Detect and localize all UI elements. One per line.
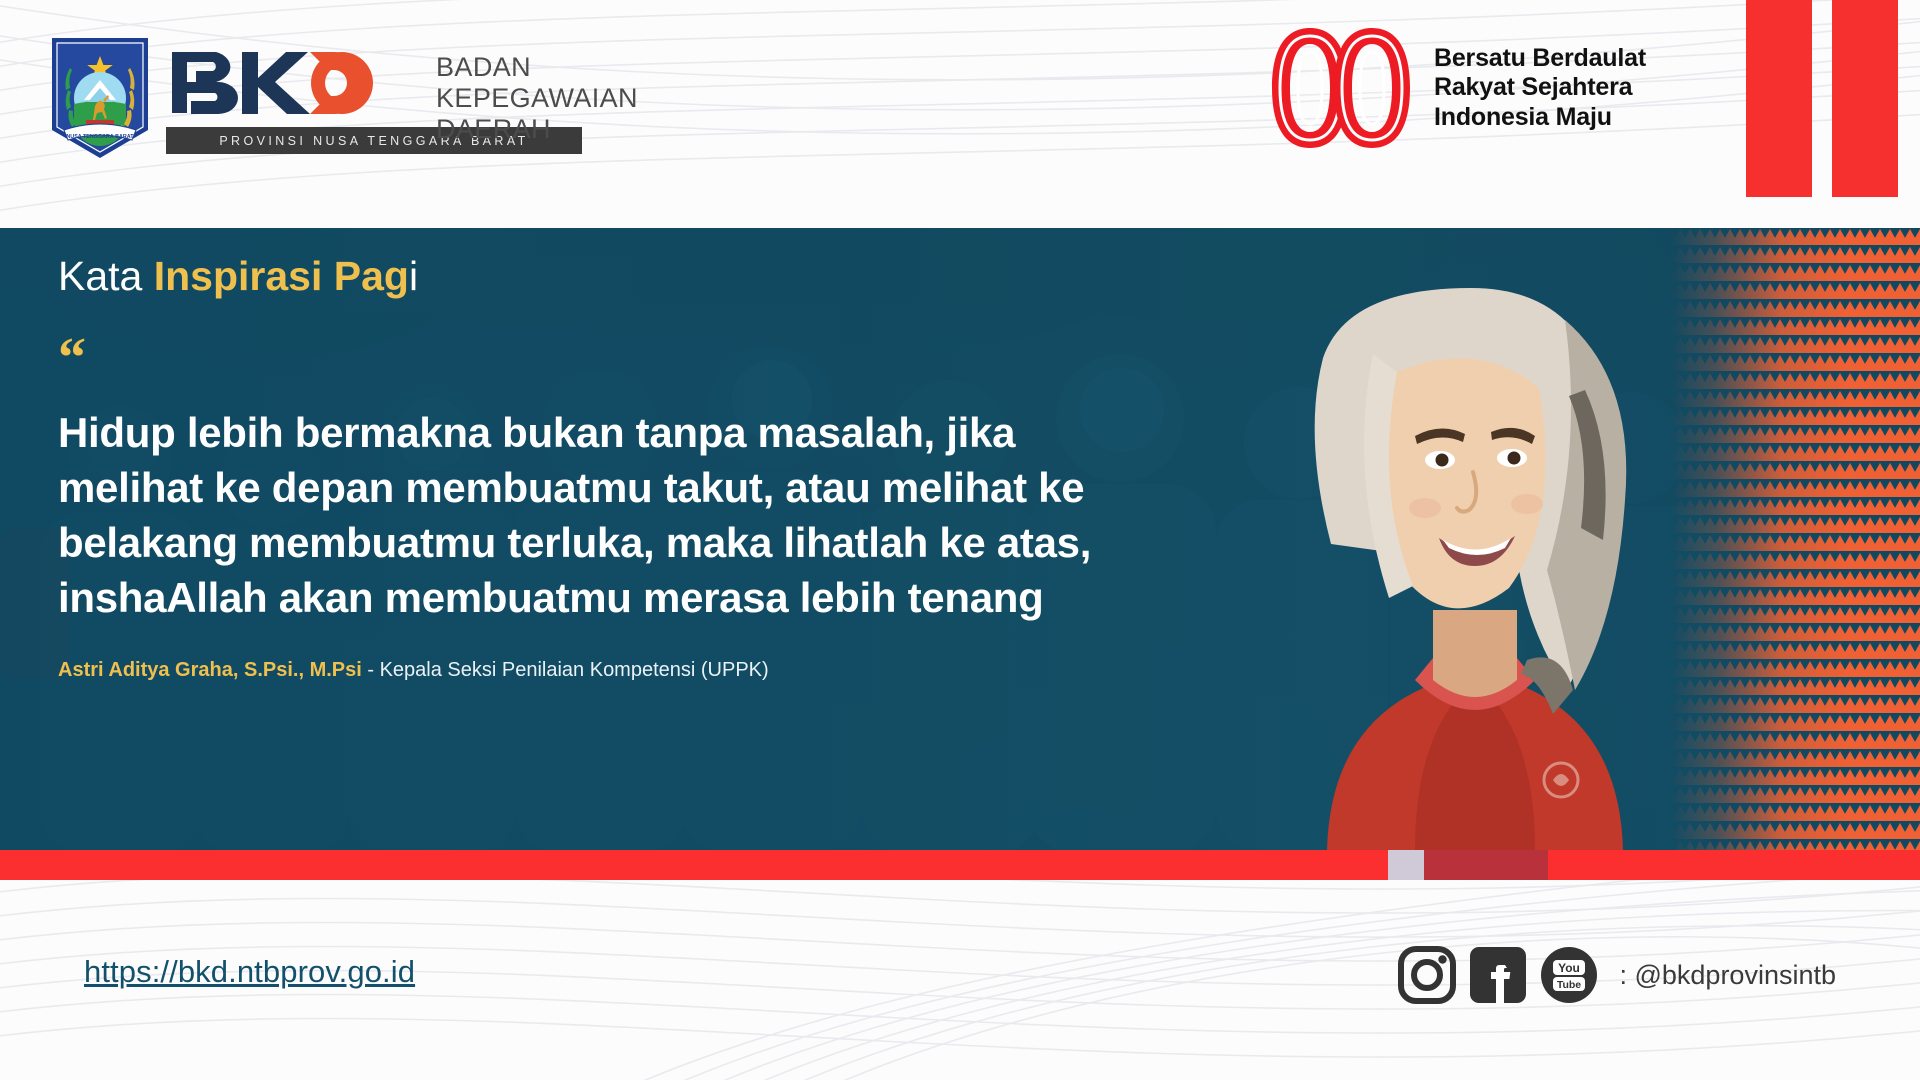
slogan-line-3: Indonesia Maju	[1434, 103, 1646, 133]
quote-content: Kata Inspirasi Pagi “ Hidup lebih bermak…	[58, 228, 1128, 682]
quote-text: Hidup lebih bermakna bukan tanpa masalah…	[58, 405, 1128, 625]
author-portrait	[1265, 260, 1685, 850]
anniversary-logo-group: Bersatu Berdaulat Rakyat Sejahtera Indon…	[1266, 26, 1646, 150]
decorative-red-bar-2	[1832, 0, 1898, 197]
banner-bottom-red-stripe	[0, 850, 1920, 880]
portrait-overlap-strip	[1370, 850, 1570, 880]
quote-attribution: Astri Aditya Graha, S.Psi., M.Psi - Kepa…	[58, 659, 1128, 682]
banner-kicker: Kata Inspirasi Pagi	[58, 254, 1128, 299]
kicker-highlight: Inspirasi Pag	[154, 253, 409, 299]
author-role: - Kepala Seksi Penilaian Kompetensi (UPP…	[362, 659, 769, 681]
page-footer: https://bkd.ntbprov.go.id You Tube : @bk…	[0, 880, 1920, 1080]
instagram-icon[interactable]	[1398, 946, 1456, 1004]
social-links-group: You Tube : @bkdprovinsintb	[1398, 946, 1836, 1004]
bkd-logo-group[interactable]: NUSA TENGGARA BARAT BADAN KEPEGAWAIAN DA…	[48, 34, 582, 162]
slogan-line-2: Rakyat Sejahtera	[1434, 73, 1646, 103]
bkd-name-line-3: DAERAH	[436, 114, 638, 145]
anniversary-slogan: Bersatu Berdaulat Rakyat Sejahtera Indon…	[1434, 44, 1646, 133]
svg-text:Tube: Tube	[1557, 979, 1581, 991]
author-name: Astri Aditya Graha, S.Psi., M.Psi	[58, 659, 362, 681]
facebook-icon[interactable]	[1469, 946, 1527, 1004]
bkd-wordmark: BADAN KEPEGAWAIAN DAERAH PROVINSI NUSA T…	[166, 46, 582, 154]
svg-text:You: You	[1559, 961, 1581, 975]
bkd-name-line-2: KEPEGAWAIAN	[436, 83, 638, 114]
social-handle-text: : @bkdprovinsintb	[1619, 960, 1836, 991]
quote-open-mark: “	[58, 345, 1128, 371]
kicker-plain-start: Kata	[58, 253, 154, 299]
ntb-provincial-crest-icon: NUSA TENGGARA BARAT	[48, 34, 152, 162]
svg-text:NUSA TENGGARA BARAT: NUSA TENGGARA BARAT	[66, 134, 134, 140]
eighty-anniversary-icon	[1266, 26, 1418, 150]
decorative-red-bar-1	[1746, 0, 1812, 197]
kicker-plain-end: i	[409, 253, 418, 299]
triangle-halftone-pattern	[1670, 228, 1920, 850]
youtube-icon[interactable]: You Tube	[1540, 946, 1598, 1004]
page-header: NUSA TENGGARA BARAT BADAN KEPEGAWAIAN DA…	[0, 0, 1920, 228]
bkd-name-line-1: BADAN	[436, 52, 638, 83]
bkd-full-name: BADAN KEPEGAWAIAN DAERAH	[436, 52, 638, 145]
slogan-line-1: Bersatu Berdaulat	[1434, 44, 1646, 74]
quote-banner: Kata Inspirasi Pagi “ Hidup lebih bermak…	[0, 228, 1920, 850]
website-url-link[interactable]: https://bkd.ntbprov.go.id	[84, 954, 415, 990]
